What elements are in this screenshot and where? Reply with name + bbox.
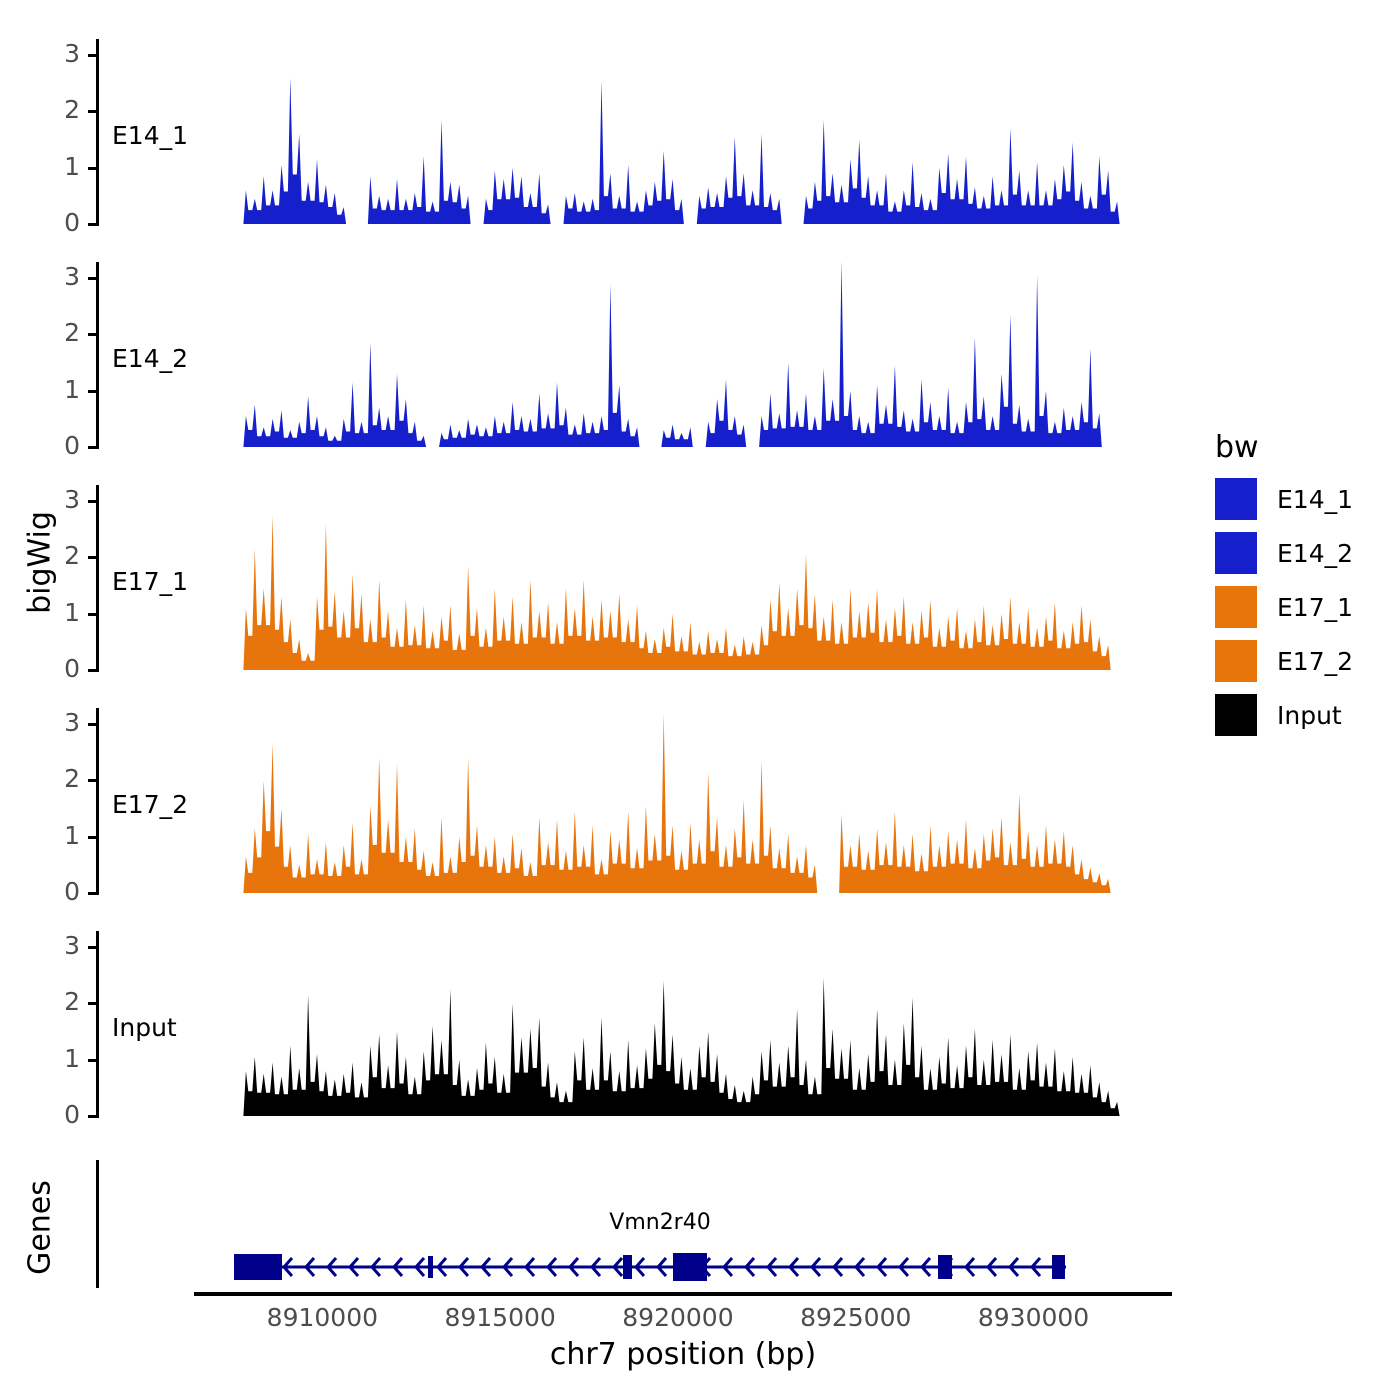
y-axis-line [96, 485, 99, 672]
y-tick-label: 1 [30, 152, 80, 181]
track-panel-e17_2: 0123E17_2 [0, 699, 1200, 899]
y-tick-mark [88, 1002, 96, 1005]
y-tick-mark [88, 223, 96, 226]
legend-label: E17_1 [1277, 593, 1353, 622]
y-tick-mark [88, 167, 96, 170]
y-tick-mark [88, 54, 96, 57]
legend-item-e17_2[interactable]: E17_2 [1215, 640, 1353, 682]
y-axis-line [96, 262, 99, 449]
y-tick-label: 1 [30, 821, 80, 850]
x-tick-label: 8920000 [578, 1303, 778, 1332]
y-axis-line [96, 931, 99, 1118]
track-label-e14_1: E14_1 [112, 121, 188, 150]
y-tick-mark [88, 613, 96, 616]
coverage-area-input [237, 922, 1126, 1122]
y-tick-label: 2 [30, 95, 80, 124]
y-tick-mark [88, 669, 96, 672]
y-tick-label: 1 [30, 375, 80, 404]
y-tick-label: 0 [30, 877, 80, 906]
legend-item-input[interactable]: Input [1215, 694, 1342, 736]
track-label-input: Input [112, 1013, 177, 1042]
y-tick-label: 2 [30, 541, 80, 570]
y-tick-mark [88, 836, 96, 839]
legend-label: E14_1 [1277, 485, 1353, 514]
y-tick-mark [88, 446, 96, 449]
y-axis-line [96, 39, 99, 226]
y-tick-mark [88, 500, 96, 503]
genes-axis-line [96, 1160, 99, 1288]
y-tick-label: 3 [30, 485, 80, 514]
x-tick-label: 8930000 [934, 1303, 1134, 1332]
y-tick-label: 1 [30, 1044, 80, 1073]
y-tick-label: 0 [30, 1100, 80, 1129]
y-tick-label: 2 [30, 987, 80, 1016]
y-tick-mark [88, 779, 96, 782]
legend-title: bw [1215, 430, 1259, 465]
track-panel-e14_1: 0123E14_1 [0, 30, 1200, 230]
coverage-area-e17_1 [237, 476, 1126, 676]
legend-label: Input [1277, 701, 1342, 730]
y-tick-mark [88, 946, 96, 949]
legend-swatch-icon [1215, 694, 1257, 736]
track-panel-e14_2: 0123E14_2 [0, 253, 1200, 453]
y-tick-mark [88, 1059, 96, 1062]
y-tick-label: 0 [30, 654, 80, 683]
legend: bw E14_1E14_2E17_1E17_2Input [1215, 430, 1400, 720]
legend-label: E17_2 [1277, 647, 1353, 676]
genes-panel: Vmn2r40 [0, 1155, 1200, 1290]
gene-name-label: Vmn2r40 [560, 1210, 760, 1235]
x-axis-title: chr7 position (bp) [383, 1337, 983, 1372]
x-tick-label: 8915000 [400, 1303, 600, 1332]
y-tick-label: 3 [30, 262, 80, 291]
y-tick-label: 2 [30, 764, 80, 793]
legend-swatch-icon [1215, 478, 1257, 520]
track-panel-e17_1: 0123E17_1 [0, 476, 1200, 676]
y-axis-line [96, 708, 99, 895]
y-tick-label: 0 [30, 208, 80, 237]
legend-item-e14_1[interactable]: E14_1 [1215, 478, 1353, 520]
y-tick-mark [88, 110, 96, 113]
x-axis-line [194, 1292, 1172, 1296]
legend-label: E14_2 [1277, 539, 1353, 568]
y-tick-label: 3 [30, 39, 80, 68]
x-tick-label: 8910000 [222, 1303, 422, 1332]
legend-swatch-icon [1215, 532, 1257, 574]
y-tick-mark [88, 1115, 96, 1118]
legend-item-e17_1[interactable]: E17_1 [1215, 586, 1353, 628]
gene-model [230, 1250, 1070, 1284]
track-label-e17_1: E17_1 [112, 567, 188, 596]
legend-item-e14_2[interactable]: E14_2 [1215, 532, 1353, 574]
y-tick-mark [88, 390, 96, 393]
y-tick-label: 0 [30, 431, 80, 460]
legend-swatch-icon [1215, 586, 1257, 628]
y-tick-label: 3 [30, 708, 80, 737]
coverage-area-e17_2 [237, 699, 1126, 899]
y-tick-label: 2 [30, 318, 80, 347]
track-panel-input: 0123Input [0, 922, 1200, 1122]
track-label-e14_2: E14_2 [112, 344, 188, 373]
x-tick-label: 8925000 [756, 1303, 956, 1332]
y-tick-mark [88, 277, 96, 280]
y-tick-label: 1 [30, 598, 80, 627]
y-tick-mark [88, 723, 96, 726]
y-tick-mark [88, 892, 96, 895]
legend-swatch-icon [1215, 640, 1257, 682]
coverage-area-e14_1 [237, 30, 1126, 230]
y-tick-mark [88, 556, 96, 559]
y-tick-mark [88, 333, 96, 336]
coverage-area-e14_2 [237, 253, 1126, 453]
track-label-e17_2: E17_2 [112, 790, 188, 819]
y-tick-label: 3 [30, 931, 80, 960]
figure-root: bigWig Genes 0123E14_10123E14_20123E17_1… [0, 0, 1400, 1400]
